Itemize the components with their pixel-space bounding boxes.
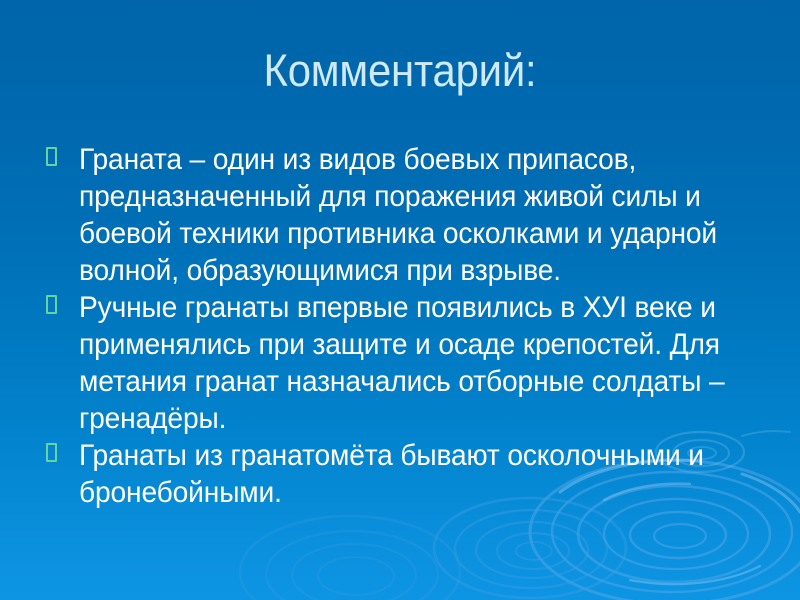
bullet-item-text: Граната – один из видов боевых припасов,…	[79, 141, 785, 289]
bullet-item: Гранаты из гранатомёта бывают осколочным…	[38, 437, 786, 511]
hollow-rectangle-bullet-icon	[46, 443, 57, 462]
hollow-rectangle-bullet-icon	[46, 295, 57, 314]
bullet-item-text: Ручные гранаты впервые появились в ХУI в…	[79, 289, 785, 437]
hollow-rectangle-bullet-icon	[46, 147, 57, 166]
bullet-item-text: Гранаты из гранатомёта бывают осколочным…	[79, 437, 785, 511]
presentation-slide: Комментарий: Граната – один из видов бое…	[0, 0, 800, 600]
slide-title: Комментарий:	[28, 44, 772, 98]
bullet-item: Ручные гранаты впервые появились в ХУI в…	[38, 289, 786, 437]
slide-body-bullet-list: Граната – один из видов боевых припасов,…	[38, 141, 786, 511]
bullet-item: Граната – один из видов боевых припасов,…	[38, 141, 786, 289]
